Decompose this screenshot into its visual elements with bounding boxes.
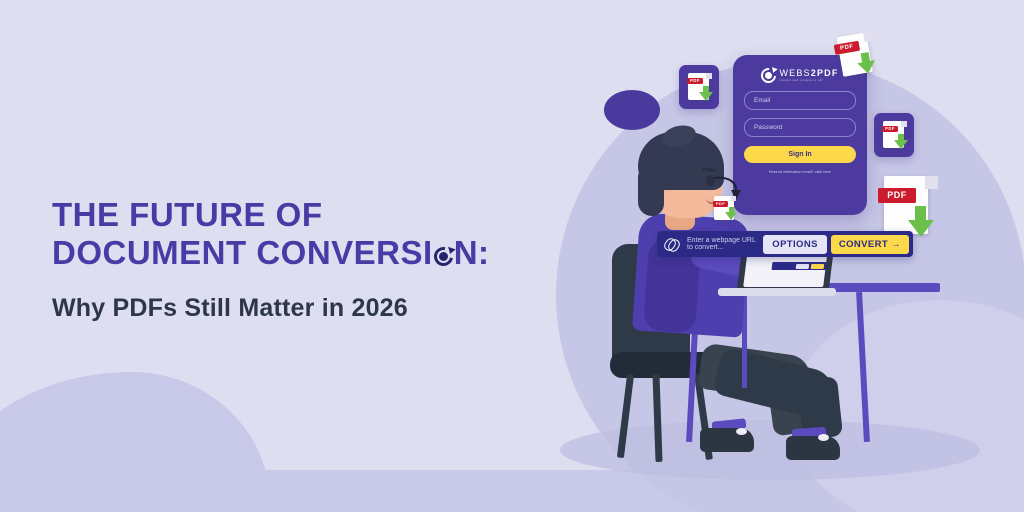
email-field[interactable]: Email	[744, 91, 856, 110]
page-subtitle: Why PDFs Still Matter in 2026	[52, 294, 522, 323]
mini-options-chip	[796, 264, 810, 269]
brand-tagline: convert web content to pdf	[779, 78, 822, 83]
headline-line-2-after: N:	[454, 234, 490, 271]
person-shoe-detail	[736, 428, 747, 435]
headline-line-2-before: DOCUMENT CONVERSI	[52, 234, 433, 271]
refresh-circle-icon	[761, 68, 776, 83]
promo-banner: THE FUTURE OF DOCUMENT CONVERSIN: Why PD…	[0, 0, 1024, 512]
resend-verification-link[interactable]: Resend verification email? click here	[733, 170, 867, 174]
pdf-tile-left: PDF	[679, 65, 719, 109]
brand-name: WEBS2PDF	[779, 68, 838, 78]
headline-block: THE FUTURE OF DOCUMENT CONVERSIN: Why PD…	[52, 196, 522, 323]
laptop-base	[718, 288, 836, 296]
pdf-badge: PDF	[882, 126, 898, 132]
email-placeholder: Email	[754, 97, 770, 104]
pdf-file-icon-top: PDF	[836, 31, 879, 81]
mini-convert-chip	[811, 264, 825, 269]
pdf-badge: PDF	[713, 201, 728, 207]
url-input[interactable]: Enter a webpage URL to convert...	[687, 237, 763, 251]
pdf-tile-right: PDF	[874, 113, 914, 157]
chain-link-icon	[665, 238, 680, 250]
pdf-badge: PDF	[687, 78, 703, 84]
pdf-badge: PDF	[878, 188, 916, 203]
person-shoe-detail	[818, 434, 829, 441]
password-placeholder: Password	[754, 124, 783, 131]
laptop-mini-convert-bar	[772, 262, 827, 270]
url-convert-bar: Enter a webpage URL to convert... OPTION…	[657, 231, 913, 257]
convert-button[interactable]: CONVERT →	[831, 235, 909, 254]
arrow-right-icon: →	[891, 239, 901, 250]
signin-button[interactable]: Sign In	[744, 146, 856, 163]
password-field[interactable]: Password	[744, 118, 856, 137]
background-ellipse-accent	[604, 90, 660, 130]
options-button[interactable]: OPTIONS	[763, 235, 827, 254]
refresh-circle-icon	[434, 247, 453, 266]
page-title: THE FUTURE OF DOCUMENT CONVERSIN:	[52, 196, 522, 272]
person-hair-side	[638, 168, 664, 216]
pdf-file-icon: PDF	[714, 196, 736, 220]
headline-line-1: THE FUTURE OF	[52, 196, 322, 233]
signin-label: Sign In	[788, 151, 811, 158]
convert-label: CONVERT	[839, 239, 888, 250]
person-shoe-near	[786, 436, 840, 460]
